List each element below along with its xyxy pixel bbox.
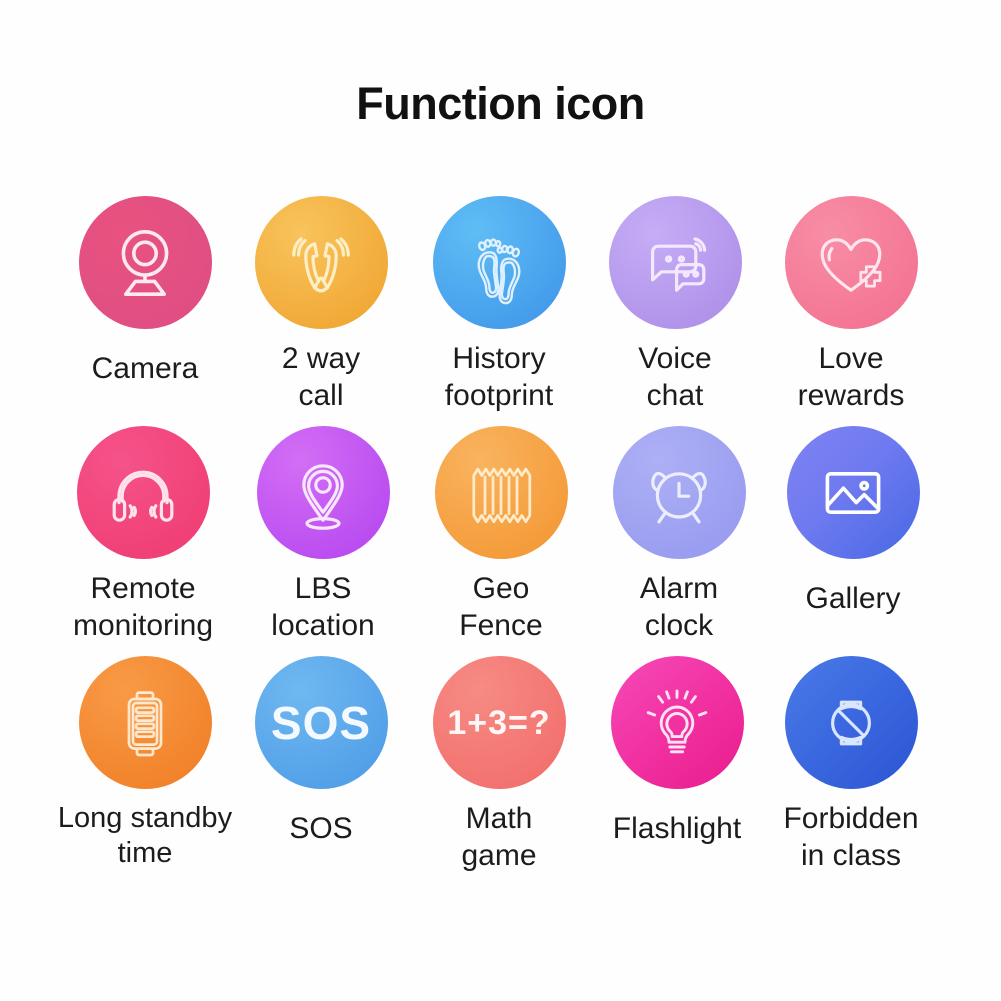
math-equation-icon-circle[interactable]: 1+3=? — [433, 656, 566, 789]
icon-cell-history-footprint[interactable]: History footprint — [404, 196, 594, 414]
icon-row: Remote monitoring LBS location — [0, 426, 1001, 656]
icon-cell-2-way-call[interactable]: 2 way call — [226, 196, 416, 414]
voice-chat-icon — [635, 223, 715, 303]
icon-cell-flashlight[interactable]: Flashlight — [582, 656, 772, 848]
heart-plus-icon-circle[interactable] — [785, 196, 918, 329]
gallery-image-icon — [813, 453, 893, 533]
icon-row: Camera 2 way call — [0, 196, 1001, 426]
camera-icon-circle[interactable] — [79, 196, 212, 329]
icon-label: Geo Fence — [406, 571, 596, 644]
icon-label: Flashlight — [582, 811, 772, 848]
headphones-icon-circle[interactable] — [77, 426, 210, 559]
math-equation-icon: 1+3=? — [447, 706, 550, 740]
icon-cell-geo-fence[interactable]: Geo Fence — [406, 426, 596, 644]
icon-label: Camera — [50, 351, 240, 388]
icon-cell-lbs-location[interactable]: LBS location — [228, 426, 418, 644]
icon-label: Gallery — [758, 581, 948, 618]
heart-plus-icon — [811, 223, 891, 303]
icon-cell-long-standby-time[interactable]: Long standby time — [50, 656, 240, 872]
icon-cell-voice-chat[interactable]: Voice chat — [580, 196, 770, 414]
alarm-clock-icon-circle[interactable] — [613, 426, 746, 559]
icon-cell-love-rewards[interactable]: Love rewards — [756, 196, 946, 414]
icon-label: Love rewards — [756, 341, 946, 414]
function-icon-page: Function icon Camera — [0, 0, 1001, 1001]
icon-cell-remote-monitoring[interactable]: Remote monitoring — [48, 426, 238, 644]
icon-cell-forbidden-in-class[interactable]: Forbidden in class — [756, 656, 946, 874]
map-pin-icon-circle[interactable] — [257, 426, 390, 559]
gallery-image-icon-circle[interactable] — [787, 426, 920, 559]
lightbulb-icon-circle[interactable] — [611, 656, 744, 789]
icon-label: Long standby time — [50, 801, 240, 872]
no-watch-icon-circle[interactable] — [785, 656, 918, 789]
icon-label: Voice chat — [580, 341, 770, 414]
no-watch-icon — [811, 683, 891, 763]
alarm-clock-icon — [639, 453, 719, 533]
icon-label: SOS — [226, 811, 416, 848]
icon-label: Math game — [404, 801, 594, 874]
icon-label: 2 way call — [226, 341, 416, 414]
icon-label: LBS location — [228, 571, 418, 644]
battery-icon-circle[interactable] — [79, 656, 212, 789]
webcam-icon — [105, 223, 185, 303]
headphones-icon — [103, 453, 183, 533]
voice-chat-icon-circle[interactable] — [609, 196, 742, 329]
icon-cell-math-game[interactable]: 1+3=? Math game — [404, 656, 594, 874]
two-way-call-icon-circle[interactable] — [255, 196, 388, 329]
sos-text-icon-circle[interactable]: SOS — [255, 656, 388, 789]
icon-cell-alarm-clock[interactable]: Alarm clock — [584, 426, 774, 644]
footprints-icon — [459, 223, 539, 303]
icon-label: Forbidden in class — [756, 801, 946, 874]
fence-icon — [461, 453, 541, 533]
lightbulb-icon — [637, 683, 717, 763]
icon-cell-camera[interactable]: Camera — [50, 196, 240, 388]
sos-text-icon: SOS — [271, 700, 371, 746]
map-pin-icon — [283, 453, 363, 533]
footprints-icon-circle[interactable] — [433, 196, 566, 329]
icon-label: Alarm clock — [584, 571, 774, 644]
page-title: Function icon — [0, 78, 1001, 130]
icon-row: Long standby time SOS SOS 1+3=? Math gam… — [0, 656, 1001, 886]
icon-label: History footprint — [404, 341, 594, 414]
icon-grid: Camera 2 way call — [0, 196, 1001, 886]
icon-label: Remote monitoring — [48, 571, 238, 644]
icon-cell-gallery[interactable]: Gallery — [758, 426, 948, 618]
fence-icon-circle[interactable] — [435, 426, 568, 559]
icon-cell-sos[interactable]: SOS SOS — [226, 656, 416, 848]
two-way-call-icon — [281, 223, 361, 303]
battery-icon — [105, 683, 185, 763]
